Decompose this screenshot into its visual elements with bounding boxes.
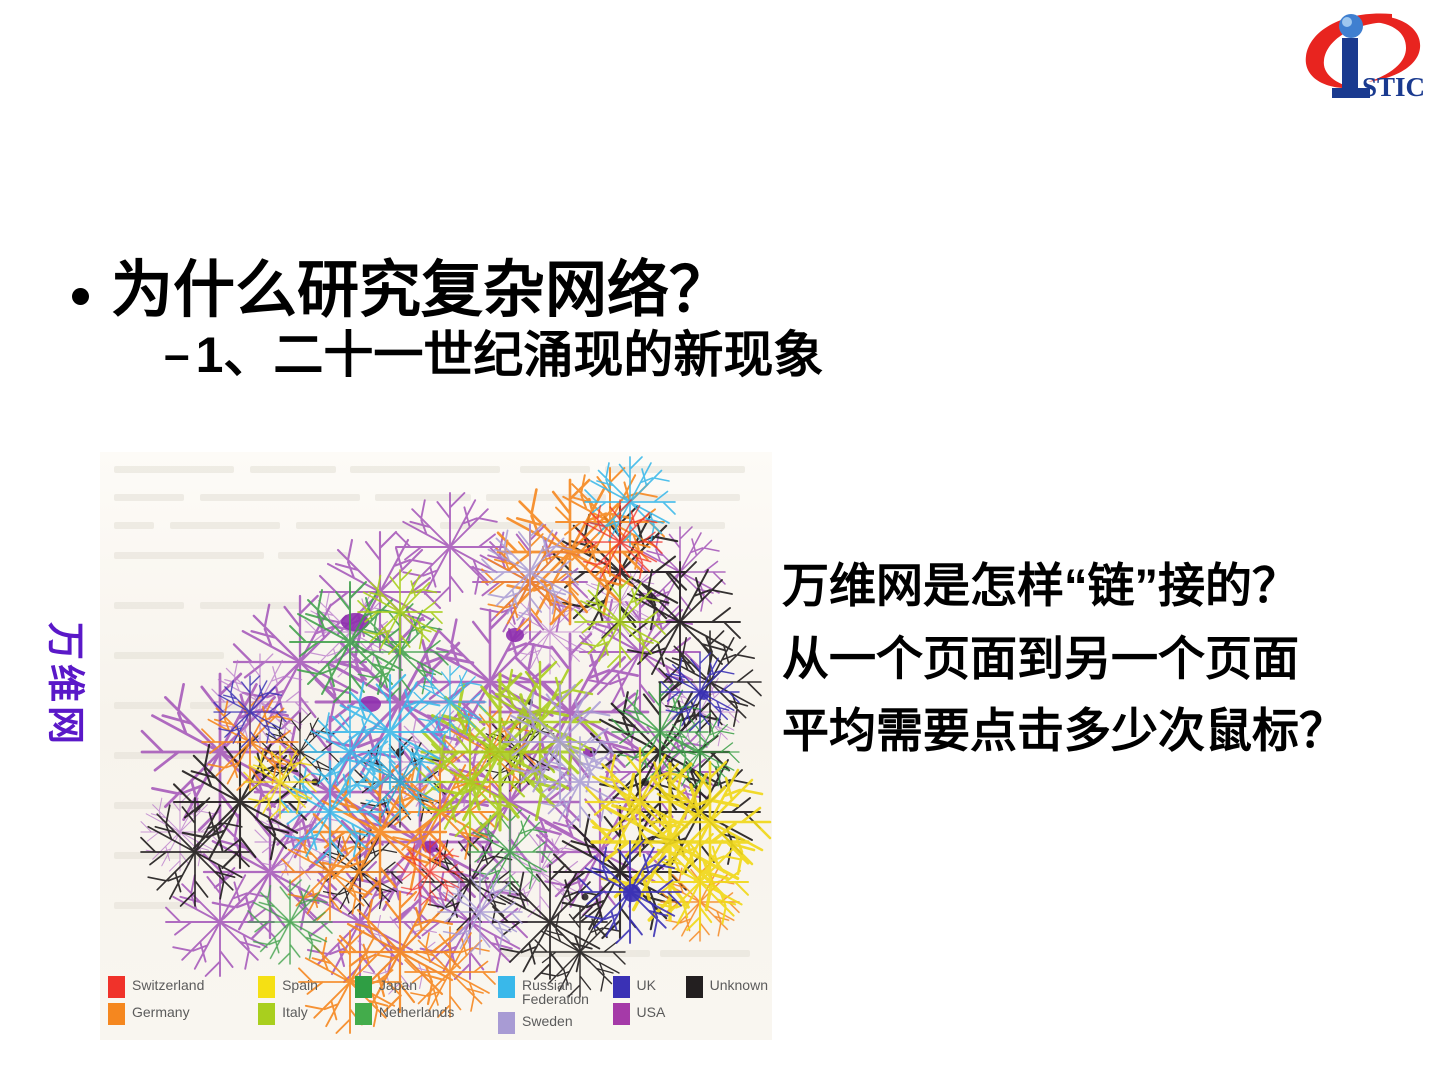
legend-column: Russian Federation Sweden [498, 976, 613, 1034]
legend-column: Unknown [686, 976, 768, 998]
logo-i-stem [1342, 38, 1358, 92]
legend-swatch-germany [108, 1003, 125, 1025]
legend-item: USA [613, 1003, 686, 1025]
legend-swatch-usa [613, 1003, 630, 1025]
legend-label-switzerland: Switzerland [132, 976, 204, 993]
legend-item: Netherlands [355, 1003, 498, 1025]
legend-swatch-sweden [498, 1012, 515, 1034]
sub-bullet-dash-icon: – [164, 331, 190, 377]
legend-item: Germany [108, 1003, 258, 1025]
figure-legend: Switzerland Germany Spain Italy Japan [108, 976, 768, 1034]
legend-label-usa: USA [637, 1003, 666, 1020]
vertical-caption-label: 万维网 [42, 622, 97, 748]
page-title: 为什么研究复杂网络？ [111, 258, 731, 323]
legend-item: Unknown [686, 976, 768, 998]
legend-label-unknown: Unknown [710, 976, 768, 993]
legend-label-netherlands: Netherlands [379, 1003, 455, 1020]
logo-i-dot [1339, 14, 1363, 38]
body-line-question-1: 万维网是怎样“链”接的？ [782, 560, 1402, 613]
legend-item: Italy [258, 1003, 355, 1025]
legend-item: Spain [258, 976, 355, 998]
legend-swatch-spain [258, 976, 275, 998]
legend-swatch-switzerland [108, 976, 125, 998]
legend-label-spain: Spain [282, 976, 318, 993]
legend-swatch-japan [355, 976, 372, 998]
title-row: 为什么研究复杂网络？ [72, 258, 1072, 323]
legend-swatch-unknown [686, 976, 703, 998]
web-network-drawing [100, 452, 772, 1040]
legend-swatch-italy [258, 1003, 275, 1025]
body-line-statement: 从一个页面到另一个页面 [782, 633, 1402, 686]
legend-label-sweden: Sweden [522, 1012, 573, 1029]
legend-swatch-russian-federation [498, 976, 515, 998]
legend-swatch-netherlands [355, 1003, 372, 1025]
legend-item: Japan [355, 976, 498, 998]
legend-item: Switzerland [108, 976, 258, 998]
legend-column: UK USA [613, 976, 686, 1025]
legend-column: Japan Netherlands [355, 976, 498, 1025]
legend-item: UK [613, 976, 686, 998]
bullet-dot-icon [72, 288, 89, 305]
legend-label-russian-federation: Russian Federation [522, 976, 589, 1007]
legend-swatch-uk [613, 976, 630, 998]
vertical-caption: 万维网 [46, 600, 92, 770]
istic-logo: STIC [1296, 8, 1428, 100]
legend-item: Russian Federation [498, 976, 613, 1007]
legend-label-italy: Italy [282, 1003, 308, 1020]
legend-column: Switzerland Germany [108, 976, 258, 1025]
logo-wordmark: STIC [1362, 72, 1425, 100]
legend-column: Spain Italy [258, 976, 355, 1025]
legend-label-germany: Germany [132, 1003, 190, 1020]
legend-item: Sweden [498, 1012, 613, 1034]
page-subtitle: 1、二十一世纪涌现的新现象 [196, 329, 824, 382]
slide-title-block: 为什么研究复杂网络？ – 1、二十一世纪涌现的新现象 [72, 258, 1072, 382]
body-text-block: 万维网是怎样“链”接的？ 从一个页面到另一个页面 平均需要点击多少次鼠标？ [782, 560, 1402, 758]
legend-label-uk: UK [637, 976, 656, 993]
subtitle-row: – 1、二十一世纪涌现的新现象 [164, 329, 1072, 382]
legend-label-japan: Japan [379, 976, 417, 993]
body-line-question-2: 平均需要点击多少次鼠标？ [782, 705, 1402, 758]
logo-i-dot-highlight [1342, 17, 1352, 27]
web-map-figure: Switzerland Germany Spain Italy Japan [100, 452, 772, 1040]
